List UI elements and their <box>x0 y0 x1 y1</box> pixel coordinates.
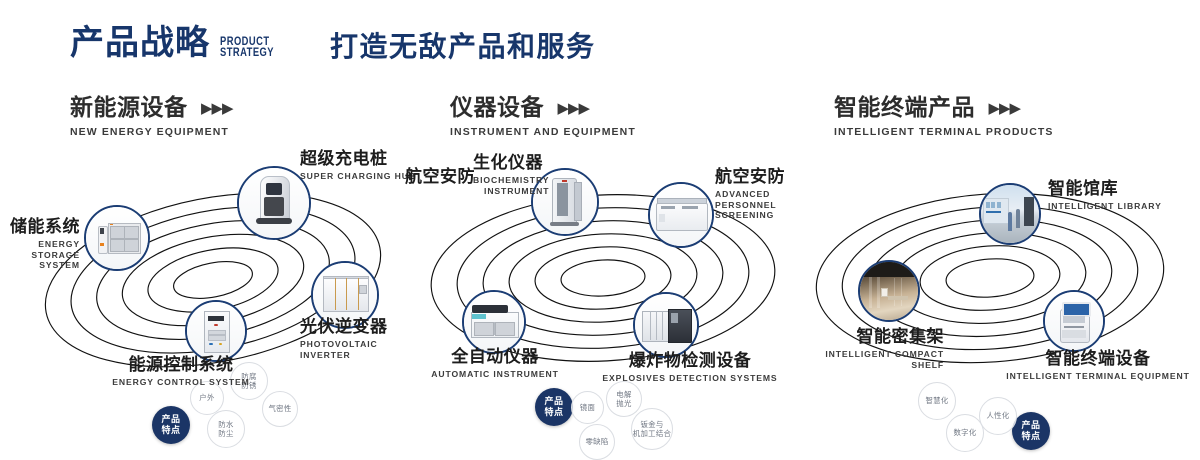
page-title-en: PRODUCT STRATEGY <box>220 36 274 58</box>
node-intelligent-library[interactable] <box>979 183 1041 245</box>
core-badge-intelligent-terminal: 产品特点 <box>1012 412 1050 450</box>
label-automatic-instrument: 全自动仪器 AUTOMATIC INSTRUMENT <box>405 348 585 380</box>
core-badge-new-energy: 产品特点 <box>152 406 190 444</box>
label-energy-storage-system: 储能系统 ENERGY STORAGE SYSTEM <box>0 218 80 271</box>
page-subtitle: 打造无敌产品和服务 <box>330 33 596 61</box>
section-title-cn-0: 新能源设备 <box>70 96 188 119</box>
label-intelligent-compact-shelf: 智能密集架 INTELLIGENT COMPACT SHELF <box>790 328 944 370</box>
label-intelligent-library: 智能馆库 INTELLIGENT LIBRARY <box>1048 180 1162 212</box>
section-header-intelligent-terminal: 智能终端产品 ▶▶▶ INTELLIGENT TERMINAL PRODUCTS <box>834 96 1054 138</box>
cluster-intelligent-terminal: 产品特点 智慧化 数字化 人性化 智能馆库 INTELLIGENT LIBRAR… <box>790 150 1200 402</box>
feature-bubble-1-0: 镜面 <box>571 391 604 424</box>
feature-bubble-1-1: 电解 抛光 <box>606 381 642 417</box>
node-advanced-personnel-screening[interactable] <box>648 182 714 248</box>
infographic-canvas: 产品战略 PRODUCT STRATEGY 打造无敌产品和服务 新能源设备 ▶▶… <box>0 0 1200 422</box>
node-energy-storage-system[interactable] <box>84 205 150 271</box>
chevron-right-icon: ▶▶▶ <box>988 99 1020 117</box>
section-header-instrument: 仪器设备 ▶▶▶ INSTRUMENT AND EQUIPMENT <box>450 96 636 138</box>
node-intelligent-compact-shelf[interactable] <box>858 260 920 322</box>
section-title-cn-1: 仪器设备 <box>450 96 544 119</box>
label-intelligent-terminal-equipment: 智能终端设备 INTELLIGENT TERMINAL EQUIPMENT <box>998 350 1198 382</box>
chevron-right-icon: ▶▶▶ <box>557 99 589 117</box>
label-explosives-detection-systems: 爆炸物检测设备 EXPLOSIVES DETECTION SYSTEMS <box>575 352 805 384</box>
node-intelligent-terminal-equipment[interactable] <box>1043 290 1105 352</box>
feature-bubble-2-2: 人性化 <box>979 397 1017 435</box>
section-title-en-1: INSTRUMENT AND EQUIPMENT <box>450 126 636 138</box>
page-title-cn: 产品战略 <box>70 26 210 60</box>
node-automatic-instrument[interactable] <box>462 290 526 354</box>
feature-bubble-1-3: 钣金与 机加工结合 <box>631 408 673 450</box>
core-badge-instrument: 产品特点 <box>535 388 573 426</box>
feature-bubble-0-2: 防水 防尘 <box>207 410 245 448</box>
node-explosives-detection-systems[interactable] <box>633 292 699 358</box>
label-biochemistry-instrument: 生化仪器 BIOCHEMISTRY INSTRUMENT <box>473 154 549 196</box>
cluster-new-energy: 产品特点 户外 防腐 防锈 防水 防尘 气密性 储能系统 ENERGY STOR… <box>0 150 420 400</box>
section-title-cn-2: 智能终端产品 <box>834 96 975 119</box>
label-energy-control-system: 能源控制系统 ENERGY CONTROL SYSTEM <box>86 356 276 388</box>
feature-bubble-2-1: 数字化 <box>946 414 984 452</box>
page-title: 产品战略 PRODUCT STRATEGY <box>70 26 289 60</box>
section-title-en-2: INTELLIGENT TERMINAL PRODUCTS <box>834 126 1054 138</box>
chevron-right-icon: ▶▶▶ <box>201 99 233 117</box>
feature-bubble-1-2: 零缺陷 <box>579 424 615 460</box>
section-title-en-0: NEW ENERGY EQUIPMENT <box>70 126 233 138</box>
cluster-instrument: 产品特点 镜面 电解 抛光 零缺陷 钣金与 机加工结合 航空安防 生化仪器 BI… <box>395 150 815 400</box>
label-aviation-security: 航空安防 <box>405 168 475 186</box>
node-energy-control-system[interactable] <box>185 300 247 362</box>
feature-bubble-2-0: 智慧化 <box>918 382 956 420</box>
section-header-new-energy: 新能源设备 ▶▶▶ NEW ENERGY EQUIPMENT <box>70 96 233 138</box>
